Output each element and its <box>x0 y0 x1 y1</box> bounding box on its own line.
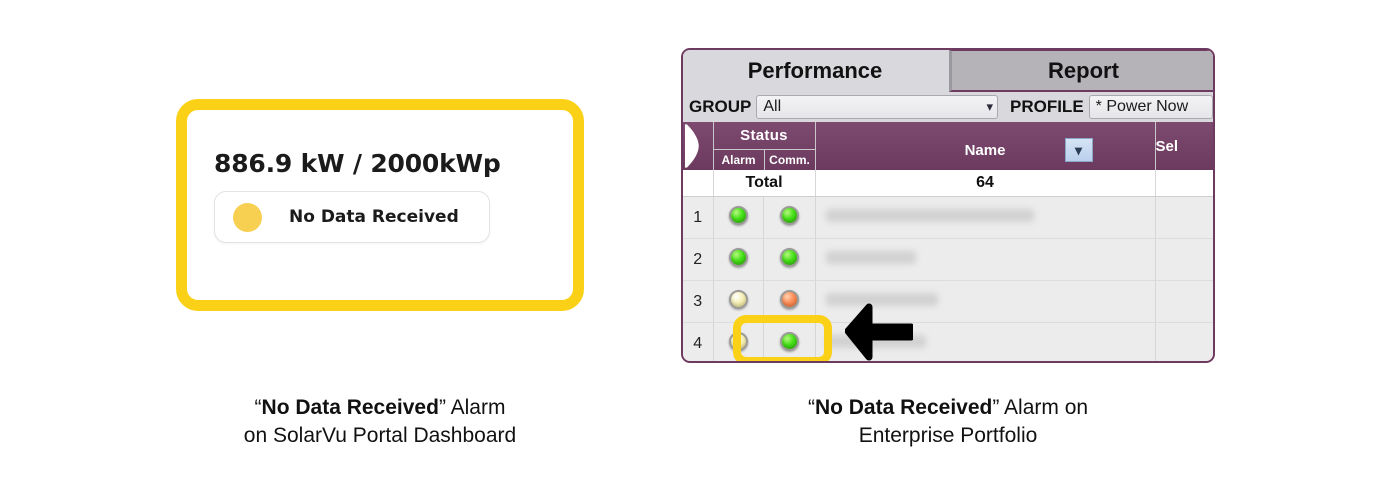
name-column-header[interactable]: Name ▾ <box>815 122 1155 170</box>
comm-led-green-icon <box>780 332 799 351</box>
table-row[interactable]: 1 <box>683 197 1213 239</box>
site-name-redacted <box>826 251 916 264</box>
alarm-status-cell[interactable] <box>713 197 763 239</box>
caption-right-line2: Enterprise Portfolio <box>728 422 1168 450</box>
total-row-label: Total <box>713 170 815 197</box>
sel-cell[interactable] <box>1155 281 1213 323</box>
filter-bar: GROUP All ▾ PROFILE * Power Now <box>683 92 1213 122</box>
profile-select[interactable]: * Power Now <box>1089 95 1213 119</box>
status-dot-icon <box>233 203 262 232</box>
chevron-right-icon <box>683 124 713 168</box>
sel-cell[interactable] <box>1155 239 1213 281</box>
status-header-label: Status <box>714 122 815 150</box>
enterprise-portfolio-panel: Performance Report GROUP All ▾ PROFILE *… <box>681 48 1215 363</box>
solarvu-dashboard-card-panel: 886.9 kW / 2000kWp No Data Received <box>176 99 584 311</box>
alarm-column-header: Alarm <box>714 150 765 170</box>
caption-right-bold: No Data Received <box>815 396 992 419</box>
sel-cell[interactable] <box>1155 323 1213 364</box>
profile-select-value: * Power Now <box>1096 98 1188 116</box>
name-header-label: Name <box>965 134 1006 159</box>
comm-column-header: Comm. <box>765 150 815 170</box>
alarm-led-green-icon <box>729 248 748 267</box>
profile-label: PROFILE <box>1010 97 1084 117</box>
name-sort-chevron-down-icon[interactable]: ▾ <box>1065 138 1093 162</box>
caption-left-rest: Alarm <box>446 396 506 419</box>
table-row[interactable]: 3 <box>683 281 1213 323</box>
total-row-sel <box>1155 170 1213 197</box>
expand-all-column-header[interactable] <box>683 122 713 170</box>
site-name-cell[interactable] <box>815 197 1155 239</box>
group-select[interactable]: All ▾ <box>756 95 998 119</box>
caption-left-line2: on SolarVu Portal Dashboard <box>160 422 600 450</box>
no-data-received-status-pill[interactable]: No Data Received <box>214 191 490 243</box>
group-label: GROUP <box>689 97 751 117</box>
quote-open: “ <box>808 396 815 419</box>
row-index: 1 <box>683 197 713 239</box>
row-index: 4 <box>683 323 713 364</box>
group-select-value: All <box>763 98 781 116</box>
comm-led-green-icon <box>780 206 799 225</box>
sel-cell[interactable] <box>1155 197 1213 239</box>
comm-led-orange-icon <box>780 290 799 309</box>
total-row: Total 64 <box>683 170 1213 197</box>
comm-status-cell[interactable] <box>763 281 815 323</box>
alarm-led-yellow-icon <box>729 332 748 351</box>
caption-left-line1: “No Data Received” Alarm <box>160 394 600 422</box>
table-header: Status Alarm Comm. Name ▾ Sel <box>683 122 1213 170</box>
comm-status-cell[interactable] <box>763 323 815 364</box>
sel-column-header: Sel <box>1155 122 1213 170</box>
left-arrow-icon <box>845 299 913 363</box>
comm-led-green-icon <box>780 248 799 267</box>
tab-performance[interactable]: Performance <box>683 50 947 92</box>
alarm-status-cell[interactable] <box>713 281 763 323</box>
tab-strip: Performance Report <box>683 50 1213 92</box>
caption-left: “No Data Received” Alarm on SolarVu Port… <box>160 394 600 451</box>
table-body: Total 64 1234 <box>683 170 1213 363</box>
site-name-cell[interactable] <box>815 239 1155 281</box>
quote-close: ” <box>439 396 446 419</box>
caption-left-bold: No Data Received <box>262 396 439 419</box>
caption-right-rest: Alarm on <box>999 396 1088 419</box>
status-column-header: Status Alarm Comm. <box>713 122 815 170</box>
chevron-down-icon: ▾ <box>986 99 993 115</box>
table-row[interactable]: 4 <box>683 323 1213 364</box>
row-index: 3 <box>683 281 713 323</box>
caption-right-line1: “No Data Received” Alarm on <box>728 394 1168 422</box>
row-index: 2 <box>683 239 713 281</box>
comm-status-cell[interactable] <box>763 197 815 239</box>
alarm-status-cell[interactable] <box>713 239 763 281</box>
comm-status-cell[interactable] <box>763 239 815 281</box>
power-readout: 886.9 kW / 2000kWp <box>214 151 564 176</box>
alarm-led-green-icon <box>729 206 748 225</box>
table-row[interactable]: 2 <box>683 239 1213 281</box>
site-name-redacted <box>826 209 1034 222</box>
caption-right: “No Data Received” Alarm on Enterprise P… <box>728 394 1168 451</box>
quote-open: “ <box>255 396 262 419</box>
status-pill-label: No Data Received <box>289 207 459 227</box>
alarm-status-cell[interactable] <box>713 323 763 364</box>
alarm-led-yellow-icon <box>729 290 748 309</box>
tab-report[interactable]: Report <box>949 50 1215 92</box>
dashboard-card-content: 886.9 kW / 2000kWp No Data Received <box>214 151 564 243</box>
total-row-index <box>683 170 713 197</box>
total-row-count: 64 <box>815 170 1155 197</box>
portfolio-table: Status Alarm Comm. Name ▾ Sel <box>683 122 1214 363</box>
